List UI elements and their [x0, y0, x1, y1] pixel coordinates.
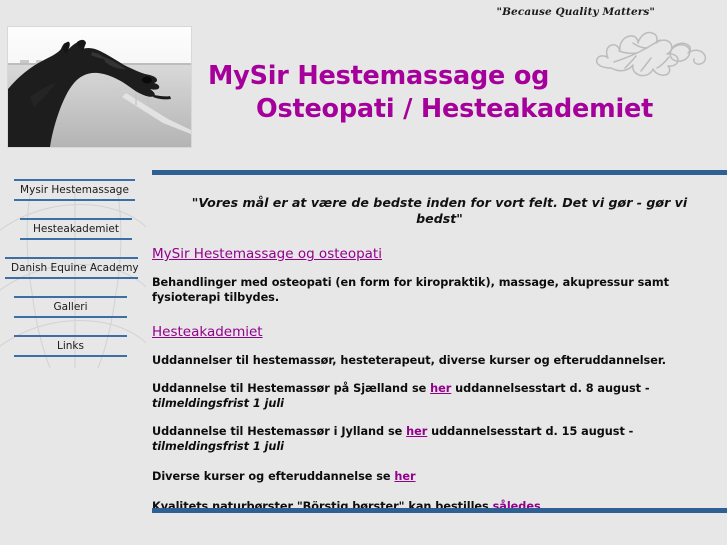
sidebar-nav: Mysir Hestemassage Hesteakademiet Danish…	[0, 168, 146, 374]
sidebar-item-hesteakademiet[interactable]: Hesteakademiet	[20, 218, 132, 240]
paragraph-sjaelland-pre: Uddannelse til Hestemassør på Sjælland s…	[152, 382, 430, 395]
link-mysir-hestemassage-og-osteopati[interactable]: MySir Hestemassage og osteopati	[152, 246, 382, 262]
paragraph-sjaelland-deadline: tilmeldingsfrist 1 juli	[152, 397, 284, 410]
tagline: "Because Quality Matters"	[497, 6, 656, 18]
paragraph-sjaelland-mid: uddannelsesstart d. 8 august -	[451, 382, 649, 395]
content-bottom-divider	[152, 508, 727, 513]
sidebar-item-label: Mysir Hestemassage	[20, 184, 129, 196]
paragraph-educations: Uddannelser til hestemassør, hesteterape…	[152, 353, 727, 368]
sidebar-item-links[interactable]: Links	[14, 335, 127, 357]
paragraph-sjaelland: Uddannelse til Hestemassør på Sjælland s…	[152, 381, 727, 411]
horse-head-photo	[8, 27, 191, 147]
paragraph-courses: Diverse kurser og efteruddannelse se her	[152, 469, 727, 484]
paragraph-jylland-pre: Uddannelse til Hestemassør i Jylland se	[152, 425, 406, 438]
sidebar-item-danish-equine-academy[interactable]: Danish Equine Academy	[5, 257, 138, 279]
page-title-line2: Osteopati / Hesteakademiet	[208, 93, 653, 126]
paragraph-jylland-deadline: tilmeldingsfrist 1 juli	[152, 440, 284, 453]
paragraph-jylland-mid: uddannelsesstart d. 15 august -	[427, 425, 633, 438]
content-bottom-divider-wrap	[152, 508, 727, 513]
paragraph-jylland: Uddannelse til Hestemassør i Jylland se …	[152, 424, 727, 454]
page-title: MySir Hestemassage og Osteopati / Hestea…	[208, 60, 653, 126]
sidebar-item-label: Links	[57, 340, 84, 352]
sidebar-item-mysir-hestemassage[interactable]: Mysir Hestemassage	[14, 179, 135, 201]
site-header: "Because Quality Matters" MySir Hestemas…	[0, 0, 727, 168]
page-title-line1: MySir Hestemassage og	[208, 61, 549, 91]
sidebar-item-label: Hesteakademiet	[33, 223, 119, 235]
paragraph-courses-pre: Diverse kurser og efteruddannelse se	[152, 470, 394, 483]
horse-photo-image	[8, 27, 191, 147]
main-content: "Vores mål er at være de bedste inden fo…	[152, 168, 727, 514]
link-her-sjaelland[interactable]: her	[430, 382, 451, 395]
mission-quote: "Vores mål er at være de bedste inden fo…	[172, 195, 707, 227]
link-her-jylland[interactable]: her	[406, 425, 427, 438]
link-hesteakademiet[interactable]: Hesteakademiet	[152, 324, 263, 340]
sidebar-item-label: Galleri	[53, 301, 87, 313]
paragraph-treatments: Behandlinger med osteopati (en form for …	[152, 275, 727, 305]
link-her-courses[interactable]: her	[394, 470, 415, 483]
sidebar-item-galleri[interactable]: Galleri	[14, 296, 127, 318]
sidebar-item-label: Danish Equine Academy	[11, 262, 139, 274]
content-top-divider	[152, 170, 727, 175]
